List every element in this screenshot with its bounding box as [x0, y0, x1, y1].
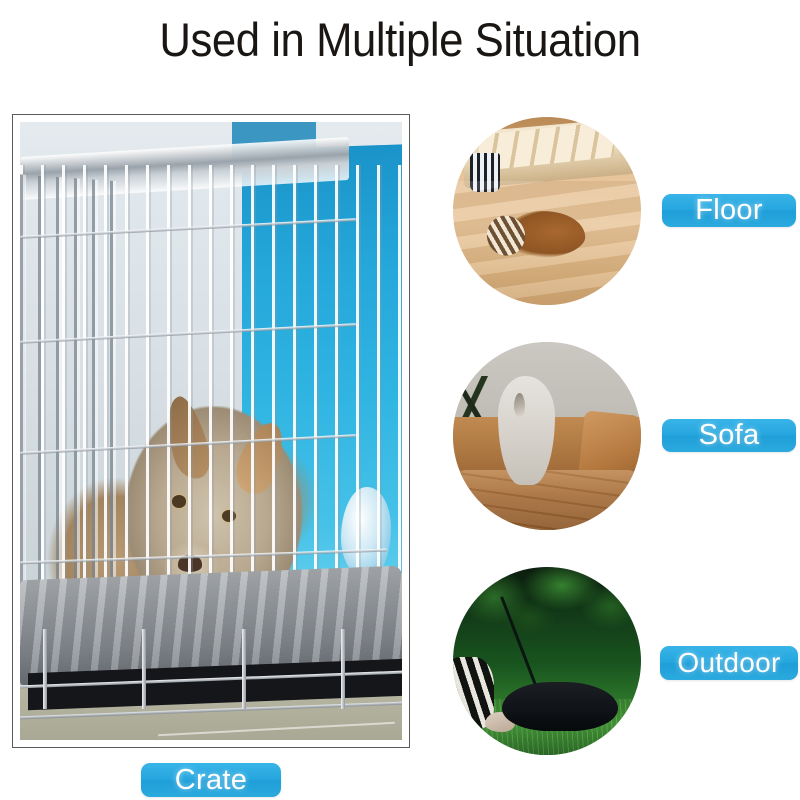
crate-photo	[20, 122, 402, 740]
situation-thumbnail-floor[interactable]	[453, 117, 641, 305]
main-product-photo-frame	[12, 114, 410, 748]
situation-label-sofa: Sofa	[662, 419, 796, 452]
situation-label-outdoor: Outdoor	[660, 646, 798, 680]
situation-thumbnail-outdoor[interactable]	[453, 567, 641, 755]
crate-post	[43, 629, 47, 709]
floor-scene	[453, 117, 641, 305]
crate-post	[142, 629, 146, 709]
situation-thumbnail-sofa[interactable]	[453, 342, 641, 530]
situation-label-floor: Floor	[662, 194, 796, 227]
sofa-scene	[453, 342, 641, 530]
page-title: Used in Multiple Situation	[28, 12, 772, 67]
crate-scene-floor-line	[158, 721, 395, 735]
sofa-scene-dog	[498, 376, 554, 485]
sofa-scene-dog-head	[514, 393, 525, 417]
outdoor-scene	[453, 567, 641, 755]
sofa-scene-seat	[453, 470, 641, 530]
situation-label-crate: Crate	[141, 763, 281, 797]
crate-wire-bars-side	[20, 174, 123, 639]
outdoor-scene-dog	[502, 682, 619, 731]
crate-post	[341, 629, 345, 709]
crate-post	[242, 629, 246, 709]
